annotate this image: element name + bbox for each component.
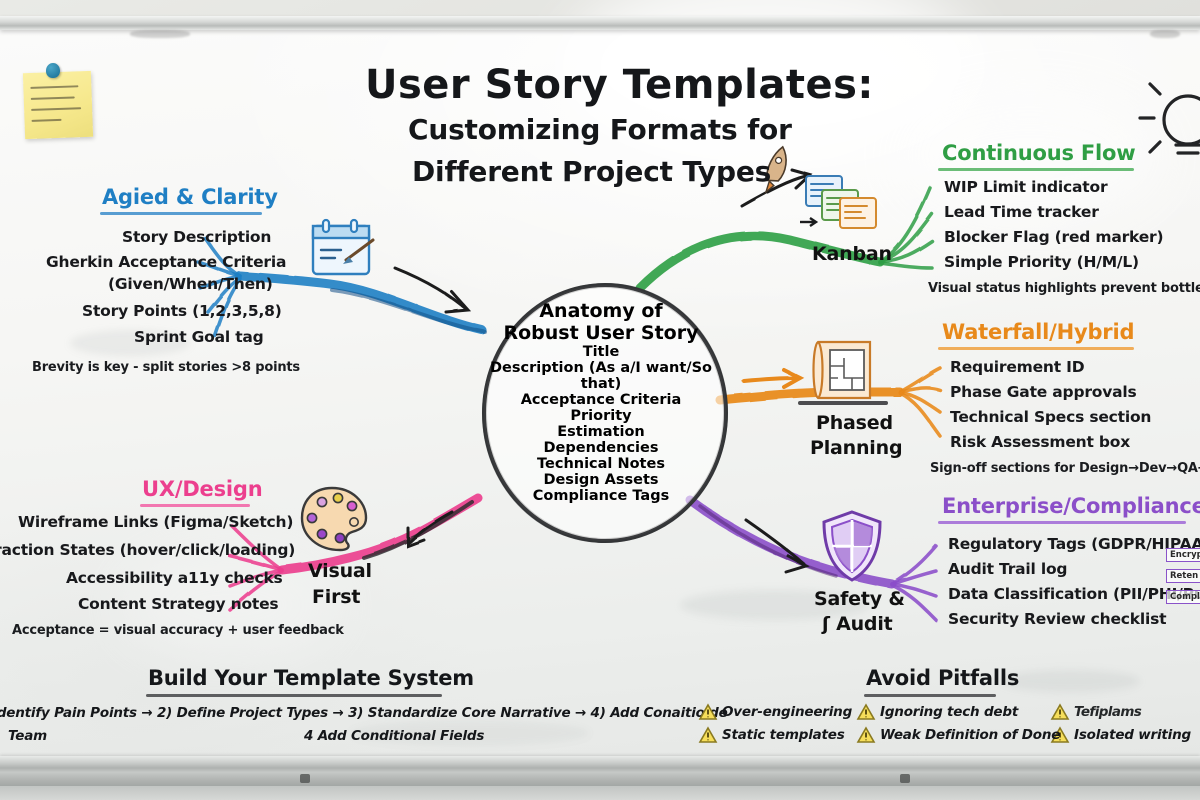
- leaf-waterfall-2: Phase Gate approvals: [950, 383, 1137, 401]
- node-label-waterfall-2: Planning: [810, 437, 902, 459]
- pitfall-item: Over-engineering: [722, 704, 852, 720]
- center-item: Estimation: [470, 424, 732, 440]
- leaf-agile-5: Sprint Goal tag: [134, 328, 264, 346]
- leaf-agile-1: Story Description: [122, 228, 271, 246]
- compliance-box-3: Compl: [1166, 590, 1200, 604]
- compliance-box-2: Reten: [1166, 569, 1200, 583]
- pitfalls-section-heading: Avoid Pitfalls: [866, 666, 1019, 690]
- leaf-enterprise-3: Data Classification (PII/PHI/Public): [948, 585, 1200, 603]
- center-heading-line1: Anatomy of: [470, 300, 732, 322]
- node-label-ux-1: Visual: [308, 560, 372, 582]
- build-section-heading: Build Your Template System: [148, 666, 474, 690]
- leaf-kanban-3: Blocker Flag (red marker): [944, 228, 1163, 246]
- leaf-agile-3: (Given/When/Then): [108, 275, 273, 293]
- branch-underline-enterprise: [938, 521, 1186, 524]
- leaf-kanban-4: Simple Priority (H/M/L): [944, 253, 1139, 271]
- branch-note-waterfall: Sign-off sections for Design→Dev→QA→UAT: [930, 461, 1200, 476]
- pitfall-item: Static templates: [722, 727, 845, 743]
- node-label-enterprise-1: Safety &: [814, 588, 905, 610]
- branch-note-ux: Acceptance = visual accuracy + user feed…: [12, 623, 344, 638]
- page-title-line1: User Story Templates:: [365, 62, 874, 108]
- node-label-waterfall-1: Phased: [816, 412, 893, 434]
- leaf-ux-2: raction States (hover/click/loading): [0, 541, 295, 559]
- leaf-ux-3: Accessibility a11y checks: [66, 569, 283, 587]
- center-item: Technical Notes: [470, 456, 732, 472]
- leaf-ux-4: Content Strategy notes: [78, 595, 278, 613]
- build-steps-sub-left: Team: [8, 728, 47, 744]
- center-item: Description (As a/I want/So that): [470, 360, 732, 392]
- branch-underline-kanban: [938, 168, 1134, 171]
- whiteboard-scene: Anatomy of Robust User Story Title Descr…: [0, 0, 1200, 800]
- branch-underline-agile: [100, 212, 262, 215]
- pitfall-item: Isolated writing: [1074, 727, 1191, 743]
- branch-heading-enterprise: Enterprise/Compliance: [942, 494, 1200, 518]
- leaf-agile-2: Gherkin Acceptance Criteria: [46, 253, 286, 271]
- leaf-enterprise-2: Audit Trail log: [948, 560, 1067, 578]
- leaf-waterfall-4: Risk Assessment box: [950, 433, 1130, 451]
- leaf-enterprise-1: Regulatory Tags (GDPR/HIPAA): [948, 535, 1200, 553]
- build-steps-sub-center: 4 Add Conditional Fields: [304, 728, 484, 744]
- branch-heading-agile: Agied & Clarity: [102, 185, 278, 209]
- branch-heading-kanban: Continuous Flow: [942, 141, 1136, 165]
- branch-note-kanban: Visual status highlights prevent bottlen…: [928, 281, 1200, 296]
- center-item: Acceptance Criteria: [470, 392, 732, 408]
- branch-heading-waterfall: Waterfall/Hybrid: [942, 320, 1134, 344]
- tray-shadow: [0, 786, 1200, 800]
- branch-heading-ux: UX/Design: [142, 477, 262, 501]
- pitfalls-section-underline: [864, 694, 996, 697]
- page-title-line3: Different Project Types: [412, 155, 771, 188]
- center-node-text: Anatomy of Robust User Story Title Descr…: [470, 300, 732, 504]
- build-section-underline: [146, 694, 442, 697]
- leaf-waterfall-3: Technical Specs section: [950, 408, 1151, 426]
- node-label-ux-2: First: [312, 586, 360, 608]
- sticky-note: [23, 71, 93, 139]
- board-frame-top: [0, 16, 1200, 30]
- center-item: Priority: [470, 408, 732, 424]
- compliance-box-1: Encryp: [1166, 548, 1200, 562]
- pitfall-item: Ignoring tech debt: [880, 704, 1018, 720]
- leaf-ux-1: Wireframe Links (Figma/Sketch): [18, 513, 293, 531]
- build-steps-line: Identify Pain Points → 2) Define Project…: [0, 705, 728, 721]
- leaf-agile-4: Story Points (1,2,3,5,8): [82, 302, 282, 320]
- branch-note-agile: Brevity is key - split stories >8 points: [32, 360, 300, 375]
- leaf-kanban-1: WIP Limit indicator: [944, 178, 1107, 196]
- center-item: Compliance Tags: [470, 488, 732, 504]
- pitfall-item: Weak Definition of Done: [880, 727, 1060, 743]
- node-label-kanban: Kanban: [812, 243, 892, 265]
- branch-underline-ux: [140, 504, 250, 507]
- center-item: Title: [470, 344, 732, 360]
- leaf-waterfall-1: Requirement ID: [950, 358, 1084, 376]
- center-item: Design Assets: [470, 472, 732, 488]
- center-item: Dependencies: [470, 440, 732, 456]
- page-title-line2: Customizing Formats for: [408, 113, 792, 146]
- leaf-enterprise-4: Security Review checklist: [948, 610, 1166, 628]
- pitfall-item: Tefiplams: [1074, 704, 1141, 720]
- push-pin-icon: [46, 63, 60, 78]
- node-label-enterprise-2: ʃ Audit: [822, 613, 893, 635]
- center-heading-line2: Robust User Story: [470, 322, 732, 344]
- leaf-kanban-2: Lead Time tracker: [944, 203, 1099, 221]
- branch-underline-waterfall: [938, 347, 1134, 350]
